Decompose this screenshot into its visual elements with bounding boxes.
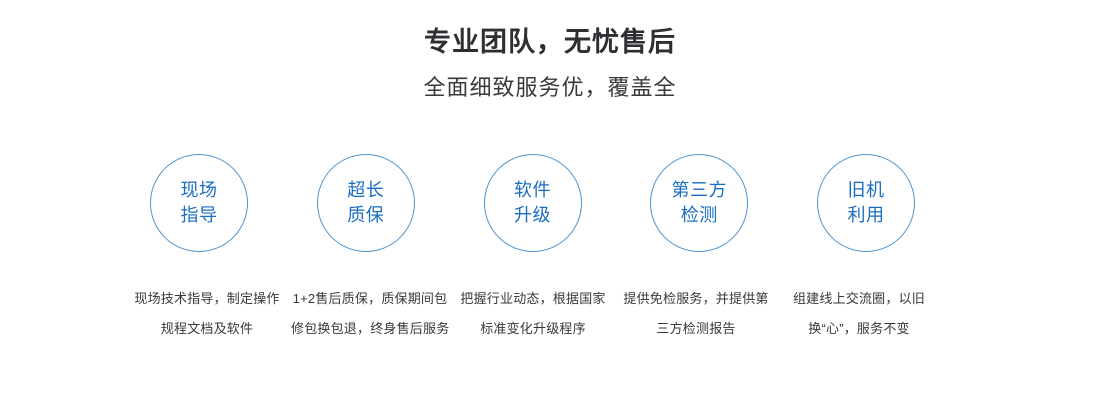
feature-caption-1: 现场技术指导，制定操作 规程文档及软件	[128, 284, 286, 344]
feature-circle-3-line1: 软件	[514, 178, 551, 203]
feature-circle-2-line2: 质保	[347, 203, 384, 228]
feature-caption-3-line2: 标准变化升级程序	[454, 314, 612, 344]
feature-circle-5[interactable]: 旧机 利用	[817, 154, 915, 252]
feature-circle-4-line2: 检测	[681, 203, 718, 228]
feature-circle-2-line1: 超长	[347, 178, 384, 203]
service-promo-section: 专业团队，无忧售后 全面细致服务优，覆盖全 现场 指导 超长 质保 软件 升级 …	[0, 0, 1100, 404]
feature-circle-4-line1: 第三方	[672, 178, 728, 203]
heading-block: 专业团队，无忧售后 全面细致服务优，覆盖全	[0, 24, 1100, 104]
feature-caption-5-line1: 组建线上交流圈，以旧	[780, 284, 938, 314]
feature-circle-1-line2: 指导	[181, 203, 218, 228]
page-title: 专业团队，无忧售后	[0, 24, 1100, 60]
feature-caption-2-line2: 修包换包退，终身售后服务	[291, 314, 449, 344]
feature-caption-2-line1: 1+2售后质保，质保期间包	[291, 284, 449, 314]
feature-circle-1[interactable]: 现场 指导	[150, 154, 248, 252]
feature-caption-1-line1: 现场技术指导，制定操作	[128, 284, 286, 314]
feature-caption-5: 组建线上交流圈，以旧 换“心”，服务不变	[780, 284, 938, 344]
feature-circle-1-line1: 现场	[181, 178, 218, 203]
feature-caption-1-line2: 规程文档及软件	[128, 314, 286, 344]
feature-circle-5-line1: 旧机	[848, 178, 885, 203]
feature-circles-row: 现场 指导 超长 质保 软件 升级 第三方 检测 旧机 利用	[150, 154, 915, 254]
feature-circle-4[interactable]: 第三方 检测	[650, 154, 748, 252]
page-subtitle: 全面细致服务优，覆盖全	[0, 72, 1100, 104]
feature-caption-3-line1: 把握行业动态，根据国家	[454, 284, 612, 314]
feature-caption-4-line2: 三方检测报告	[617, 314, 775, 344]
feature-circle-3[interactable]: 软件 升级	[484, 154, 582, 252]
feature-circle-5-line2: 利用	[848, 203, 885, 228]
feature-caption-4-line1: 提供免检服务，并提供第	[617, 284, 775, 314]
feature-caption-4: 提供免检服务，并提供第 三方检测报告	[617, 284, 775, 344]
feature-caption-3: 把握行业动态，根据国家 标准变化升级程序	[454, 284, 612, 344]
feature-circle-3-line2: 升级	[514, 203, 551, 228]
feature-caption-2: 1+2售后质保，质保期间包 修包换包退，终身售后服务	[291, 284, 449, 344]
feature-circle-2[interactable]: 超长 质保	[317, 154, 415, 252]
feature-captions-row: 现场技术指导，制定操作 规程文档及软件 1+2售后质保，质保期间包 修包换包退，…	[128, 284, 938, 344]
feature-caption-5-line2: 换“心”，服务不变	[780, 314, 938, 344]
